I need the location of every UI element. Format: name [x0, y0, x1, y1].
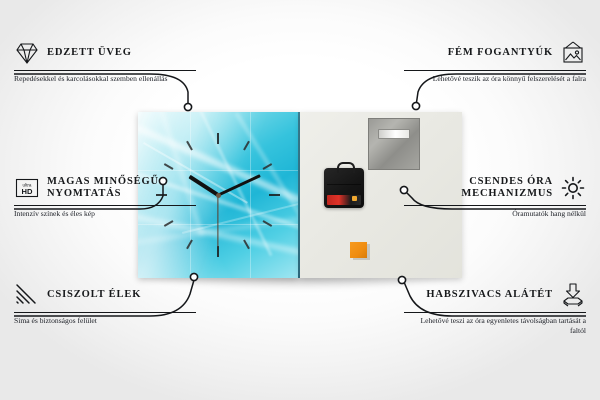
- feature-rule: [404, 205, 586, 206]
- feature-tempered-glass[interactable]: EDZETT ÜVEG Repedésekkel és karcolásokka…: [14, 40, 196, 84]
- feature-header: CSISZOLT ÉLEK: [14, 282, 196, 308]
- polished-edges-icon: [14, 282, 40, 308]
- infographic-canvas: EDZETT ÜVEG Repedésekkel és karcolásokka…: [0, 0, 600, 400]
- mechanism-hanging-loop: [337, 162, 355, 173]
- feature-description: Lehetővé teszi az óra egyenletes távolsá…: [404, 316, 586, 335]
- feature-rule: [14, 70, 196, 71]
- clock-tick: [217, 133, 219, 195]
- mechanism-seam: [327, 184, 361, 185]
- clock-center-cap: [216, 193, 221, 198]
- feature-header: CSENDES ÓRA MECHANIZMUS: [404, 175, 586, 201]
- feature-high-quality-print[interactable]: ultra HD MAGAS MINŐSÉGŰ NYOMTATÁS Intenz…: [14, 175, 196, 219]
- foam-pad: [350, 242, 367, 258]
- foam-pad-arrow-icon: [560, 282, 586, 308]
- feature-description: Óramutatók hang nélkül: [404, 209, 586, 219]
- feature-metal-handles[interactable]: FÉM FOGANTYÚK Lehetővé teszik az óra kön…: [404, 40, 586, 84]
- feature-silent-mechanism[interactable]: CSENDES ÓRA MECHANIZMUS Óramutatók hang …: [404, 175, 586, 219]
- feature-title: FÉM FOGANTYÚK: [448, 47, 553, 60]
- svg-text:HD: HD: [22, 187, 33, 196]
- hanger-slot: [378, 129, 410, 139]
- feature-rule: [404, 312, 586, 313]
- picture-hanger-icon: [560, 40, 586, 66]
- feature-header: FÉM FOGANTYÚK: [404, 40, 586, 66]
- feature-rule: [14, 205, 196, 206]
- clock-mechanism: [324, 168, 364, 208]
- diamond-icon: [14, 40, 40, 66]
- feature-description: Lehetővé teszik az óra könnyű felszerelé…: [404, 74, 586, 84]
- feature-title: MAGAS MINŐSÉGŰ NYOMTATÁS: [47, 176, 196, 201]
- feature-title: CSENDES ÓRA MECHANIZMUS: [404, 176, 553, 201]
- battery: [327, 195, 361, 205]
- feature-header: ultra HD MAGAS MINŐSÉGŰ NYOMTATÁS: [14, 175, 196, 201]
- gear-icon: [560, 175, 586, 201]
- feature-rule: [404, 70, 586, 71]
- feature-header: HABSZIVACS ALÁTÉT: [404, 282, 586, 308]
- connector-endpoint-metal-handles: [412, 102, 419, 109]
- feature-header: EDZETT ÜVEG: [14, 40, 196, 66]
- metal-hanger: [368, 118, 420, 170]
- clock-tick: [218, 194, 280, 196]
- feature-title: CSISZOLT ÉLEK: [47, 289, 141, 302]
- feature-foam-pad[interactable]: HABSZIVACS ALÁTÉT Lehetővé teszi az óra …: [404, 282, 586, 335]
- feature-title: HABSZIVACS ALÁTÉT: [426, 289, 553, 302]
- ultra-hd-icon: ultra HD: [14, 175, 40, 201]
- feature-description: Sima és biztonságos felület: [14, 316, 196, 326]
- feature-title: EDZETT ÜVEG: [47, 47, 132, 60]
- connector-endpoint-tempered-glass: [184, 103, 191, 110]
- feature-polished-edges[interactable]: CSISZOLT ÉLEK Sima és biztonságos felüle…: [14, 282, 196, 326]
- feature-description: Intenzív színek és éles kép: [14, 209, 196, 219]
- feature-description: Repedésekkel és karcolásokkal szemben el…: [14, 74, 196, 84]
- feature-rule: [14, 312, 196, 313]
